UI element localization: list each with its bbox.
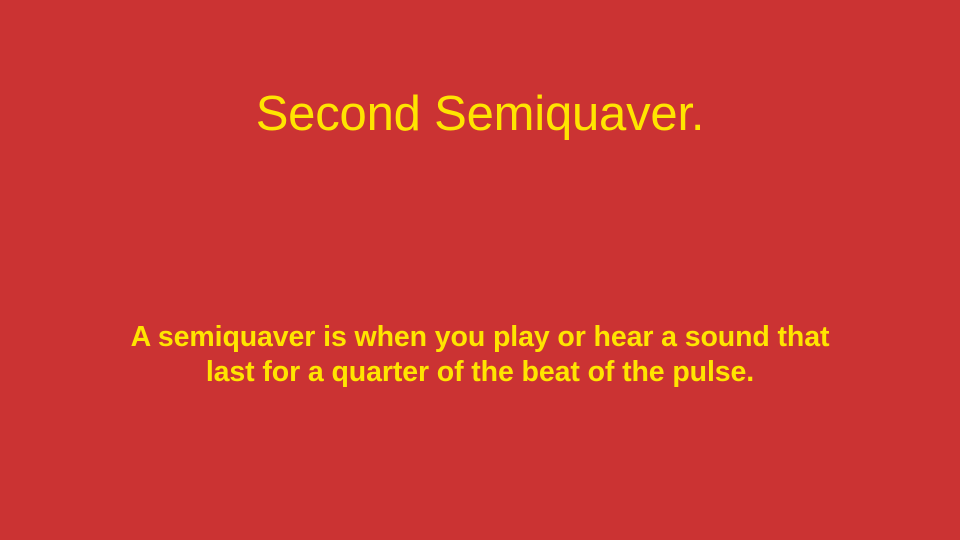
page-title: Second Semiquaver.: [60, 84, 900, 144]
slide-body-text: A semiquaver is when you play or hear a …: [110, 320, 850, 390]
slide: Second Semiquaver. A semiquaver is when …: [0, 0, 960, 540]
